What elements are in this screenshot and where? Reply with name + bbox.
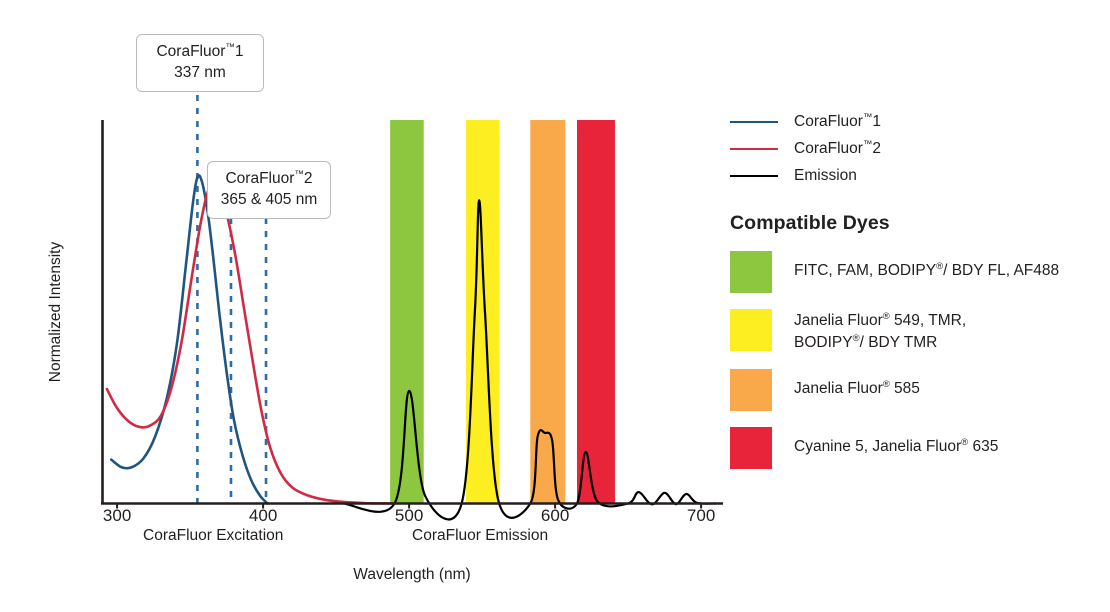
compatible-dyes-title: Compatible Dyes	[730, 212, 1100, 235]
compatible-dyes-list: FITC, FAM, BODIPY®/ BDY FL, AF488Janelia…	[730, 251, 1100, 469]
dye-label-0: FITC, FAM, BODIPY®/ BDY FL, AF488	[794, 251, 1059, 282]
curve-corafluor1	[111, 175, 267, 503]
dye-item-1: Janelia Fluor® 549, TMR,BODIPY®/ BDY TMR	[730, 309, 1100, 353]
x-tick-label-600: 600	[525, 506, 585, 526]
callout-corafluor2: CoraFluor™2 365 & 405 nm	[207, 161, 331, 219]
dye-color-swatch-1	[730, 309, 772, 351]
x-tick-label-500: 500	[379, 506, 439, 526]
green-band	[390, 120, 424, 504]
callout-corafluor2-line2: 365 & 405 nm	[218, 190, 320, 210]
dye-label-1: Janelia Fluor® 549, TMR,BODIPY®/ BDY TMR	[794, 309, 966, 353]
legend-line-swatch-1	[730, 148, 778, 150]
excitation-region-label: CoraFluor Excitation	[143, 527, 283, 545]
dye-color-swatch-2	[730, 369, 772, 411]
legend-line-swatch-2	[730, 175, 778, 177]
legend-line-swatch-0	[730, 121, 778, 123]
dye-color-swatch-0	[730, 251, 772, 293]
callout-corafluor1: CoraFluor™1 337 nm	[136, 34, 264, 92]
legend-series-list: CoraFluor™1CoraFluor™2Emission	[730, 108, 1100, 189]
legend-item-2: Emission	[730, 162, 1100, 189]
callout-corafluor1-line1: CoraFluor™1	[147, 42, 253, 63]
yellow-band	[466, 120, 500, 504]
legend-item-0: CoraFluor™1	[730, 108, 1100, 135]
legend-label-0: CoraFluor™1	[794, 112, 881, 131]
dye-item-2: Janelia Fluor® 585	[730, 369, 1100, 411]
orange-band	[530, 120, 565, 504]
curve-corafluor2	[107, 185, 395, 504]
dye-item-0: FITC, FAM, BODIPY®/ BDY FL, AF488	[730, 251, 1100, 293]
dye-item-3: Cyanine 5, Janelia Fluor® 635	[730, 427, 1100, 469]
emission-region-label: CoraFluor Emission	[412, 527, 548, 545]
dye-color-swatch-3	[730, 427, 772, 469]
legend-label-1: CoraFluor™2	[794, 139, 881, 158]
x-tick-label-300: 300	[87, 506, 147, 526]
red-band	[577, 120, 615, 504]
legend-label-2: Emission	[794, 167, 857, 185]
spectra-figure: CoraFluor™1 337 nm CoraFluor™2 365 & 405…	[0, 0, 1110, 612]
callout-corafluor2-line1: CoraFluor™2	[218, 169, 320, 190]
dye-label-2: Janelia Fluor® 585	[794, 369, 920, 400]
filter-bands	[390, 120, 615, 504]
legend-item-1: CoraFluor™2	[730, 135, 1100, 162]
dye-label-3: Cyanine 5, Janelia Fluor® 635	[794, 427, 998, 458]
x-tick-label-700: 700	[671, 506, 731, 526]
callout-corafluor1-line2: 337 nm	[147, 63, 253, 83]
excitation-marker-lines	[197, 95, 266, 504]
x-tick-label-400: 400	[233, 506, 293, 526]
x-axis-title: Wavelength (nm)	[0, 566, 824, 584]
y-axis-title: Normalized Intensity	[47, 212, 65, 412]
legend-panel: CoraFluor™1CoraFluor™2Emission Compatibl…	[730, 108, 1100, 469]
